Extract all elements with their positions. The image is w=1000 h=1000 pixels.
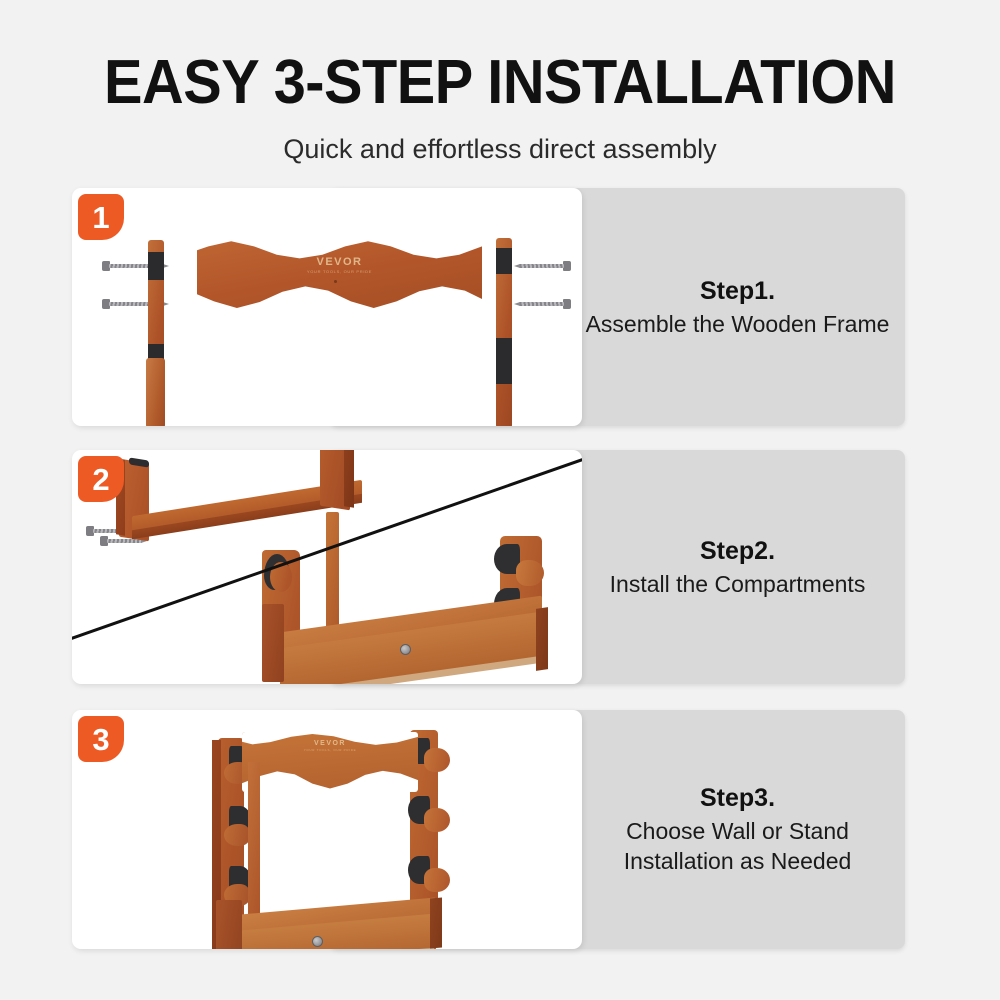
step-3-description-line-1: Choose Wall or Stand (570, 816, 905, 846)
rack-base-right-cap (430, 897, 442, 948)
step-1-badge: 1 (78, 194, 124, 240)
step-row-3: Step3. Choose Wall or Stand Installation… (0, 710, 1000, 949)
step-row-2: Step2. Install the Compartments (0, 450, 1000, 684)
step-3-badge: 3 (78, 716, 124, 762)
step-3-description-line-2: Installation as Needed (570, 846, 905, 876)
step-1-label: Step1. (570, 275, 905, 309)
step-2-badge: 2 (78, 456, 124, 502)
right-hook-lobe-1 (424, 748, 450, 772)
page-subtitle: Quick and effortless direct assembly (0, 134, 1000, 165)
assembled-gun-rack: VEVOR YOUR TOOLS, OUR PRIDE (72, 710, 582, 949)
step-row-1: Step1. Assemble the Wooden Frame (0, 188, 1000, 426)
drawer-knob (400, 644, 411, 655)
rack-wavy-top-panel: VEVOR YOUR TOOLS, OUR PRIDE (242, 732, 418, 792)
screw-icon (519, 301, 571, 307)
step-3-image-card: VEVOR YOUR TOOLS, OUR PRIDE (72, 710, 582, 949)
rack-drawer-knob (312, 936, 323, 947)
screw-icon (519, 263, 571, 269)
left-hook-lobe-2 (224, 824, 250, 846)
right-hook-lobe-3 (424, 868, 450, 892)
screw-hole (334, 280, 337, 283)
base-left-side-panel (262, 604, 284, 682)
vevor-logo: VEVOR YOUR TOOLS, OUR PRIDE (300, 740, 360, 752)
page-title: EASY 3-STEP INSTALLATION (35, 52, 965, 114)
base-right-side-cap (536, 607, 548, 671)
left-hook-notch-inner (270, 562, 292, 592)
step-2-description: Install the Compartments (570, 569, 905, 599)
step-1-image-card: VEVOR YOUR TOOLS, OUR PRIDE (72, 188, 582, 426)
header: EASY 3-STEP INSTALLATION Quick and effor… (0, 0, 1000, 165)
rack-base-left-panel (216, 900, 242, 949)
infographic-page: EASY 3-STEP INSTALLATION Quick and effor… (0, 0, 1000, 1000)
vevor-logo: VEVOR YOUR TOOLS, OUR PRIDE (295, 256, 385, 274)
left-side-rail-foot (146, 358, 165, 426)
step-2-image-card (72, 450, 582, 684)
step-3-label: Step3. (570, 782, 905, 816)
step-1-description: Assemble the Wooden Frame (570, 309, 905, 339)
step-2-label: Step2. (570, 535, 905, 569)
wooden-back-panel: VEVOR YOUR TOOLS, OUR PRIDE (197, 236, 482, 314)
right-hook-lobe (516, 560, 544, 586)
right-side-rail (496, 238, 512, 426)
base-with-drawer-assembly (232, 542, 582, 684)
right-hook-lobe-2 (424, 808, 450, 832)
shelf-right-upright-side (344, 450, 354, 508)
